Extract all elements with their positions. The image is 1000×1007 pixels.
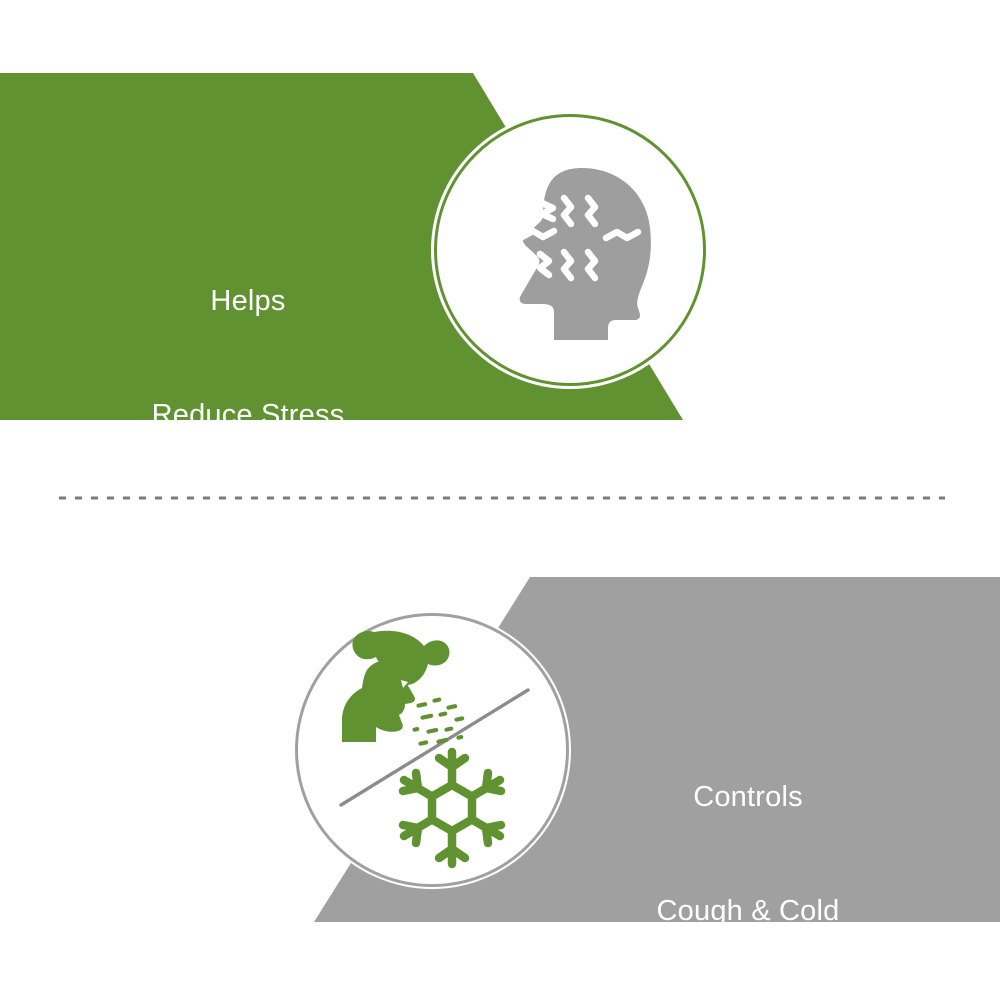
cough-cold-title-line2: Cough & Cold (592, 892, 904, 930)
infographic-canvas: Helps Reduce Stress (0, 0, 1000, 1000)
cough-cold-title-line1: Controls (592, 778, 904, 816)
cough-cold-title: Controls Cough & Cold (592, 701, 904, 1007)
